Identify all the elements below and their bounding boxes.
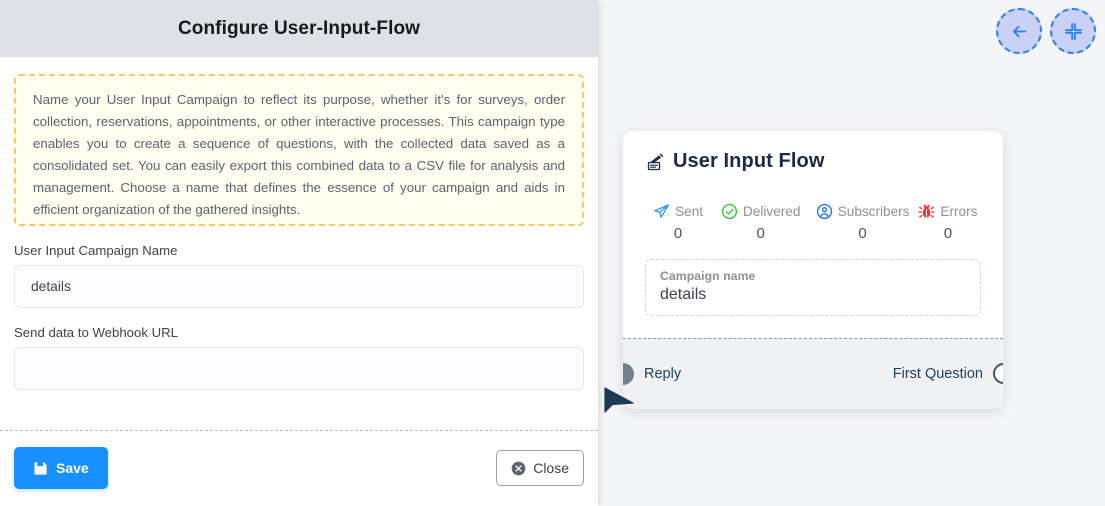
stat-delivered-label: Delivered (743, 204, 800, 219)
input-port-handle[interactable] (623, 363, 634, 385)
webhook-url-label: Send data to Webhook URL (14, 325, 584, 340)
page-title: Configure User-Input-Flow (178, 18, 420, 40)
canvas-top-actions (996, 8, 1096, 54)
modal-body: Name your User Input Campaign to reflect… (0, 57, 598, 430)
stat-subscribers-value: 0 (858, 225, 866, 242)
signature-writing-icon (645, 152, 665, 172)
stat-delivered-value: 0 (757, 225, 765, 242)
output-port[interactable]: First Question (893, 363, 987, 384)
webhook-url-input[interactable] (14, 347, 584, 390)
campaign-name-display[interactable]: Campaign name details (645, 259, 981, 316)
compress-arrows-icon (1064, 22, 1083, 41)
flow-node-ports: Reply First Question (623, 338, 1003, 409)
input-port-label: Reply (644, 366, 681, 382)
flow-node-card[interactable]: User Input Flow Sent (623, 131, 1003, 409)
stats-row: Sent 0 Delivered (645, 203, 981, 242)
ports-divider (623, 338, 1003, 339)
modal-header: Configure User-Input-Flow (0, 0, 598, 57)
floppy-save-icon (33, 461, 48, 476)
stat-subscribers-label: Subscribers (838, 204, 910, 219)
cancel-button[interactable]: Close (496, 450, 584, 486)
stat-sent: Sent 0 (645, 203, 711, 242)
campaign-name-label: User Input Campaign Name (14, 243, 584, 258)
arrow-left-icon (1010, 22, 1029, 41)
stat-sent-label: Sent (675, 204, 703, 219)
cancel-button-label: Close (533, 460, 569, 476)
campaign-name-display-label: Campaign name (660, 269, 966, 283)
stat-errors-value: 0 (944, 225, 952, 242)
campaign-name-input[interactable] (14, 265, 584, 308)
stat-sent-value: 0 (674, 225, 682, 242)
info-callout: Name your User Input Campaign to reflect… (14, 74, 584, 226)
output-port-label: First Question (893, 366, 983, 382)
footer-divider (0, 430, 598, 431)
configure-modal: Configure User-Input-Flow Name your User… (0, 0, 598, 506)
stat-subscribers: Subscribers 0 (810, 203, 915, 242)
app-root: Configure User-Input-Flow Name your User… (0, 0, 1105, 506)
save-button[interactable]: Save (14, 447, 108, 489)
collapse-button[interactable] (1050, 8, 1096, 54)
info-callout-text: Name your User Input Campaign to reflect… (33, 89, 565, 221)
circle-x-icon (511, 461, 526, 476)
stat-errors-label: Errors (940, 204, 977, 219)
stat-errors: Errors 0 (915, 203, 981, 242)
modal-footer: Save Close (0, 430, 598, 506)
bug-icon (918, 203, 935, 220)
user-circle-icon (816, 203, 833, 220)
flow-node-title: User Input Flow (673, 150, 825, 173)
input-port[interactable]: Reply (639, 363, 681, 385)
output-port-handle[interactable] (993, 363, 1003, 384)
back-button[interactable] (996, 8, 1042, 54)
paper-plane-icon (653, 203, 670, 220)
campaign-name-display-value: details (660, 286, 966, 304)
save-button-label: Save (56, 460, 89, 476)
stat-delivered: Delivered 0 (711, 203, 810, 242)
flow-canvas[interactable]: User Input Flow Sent (598, 0, 1105, 506)
check-circle-icon (721, 203, 738, 220)
flow-node-body: User Input Flow Sent (623, 131, 1003, 338)
flow-node-title-row: User Input Flow (645, 150, 981, 173)
